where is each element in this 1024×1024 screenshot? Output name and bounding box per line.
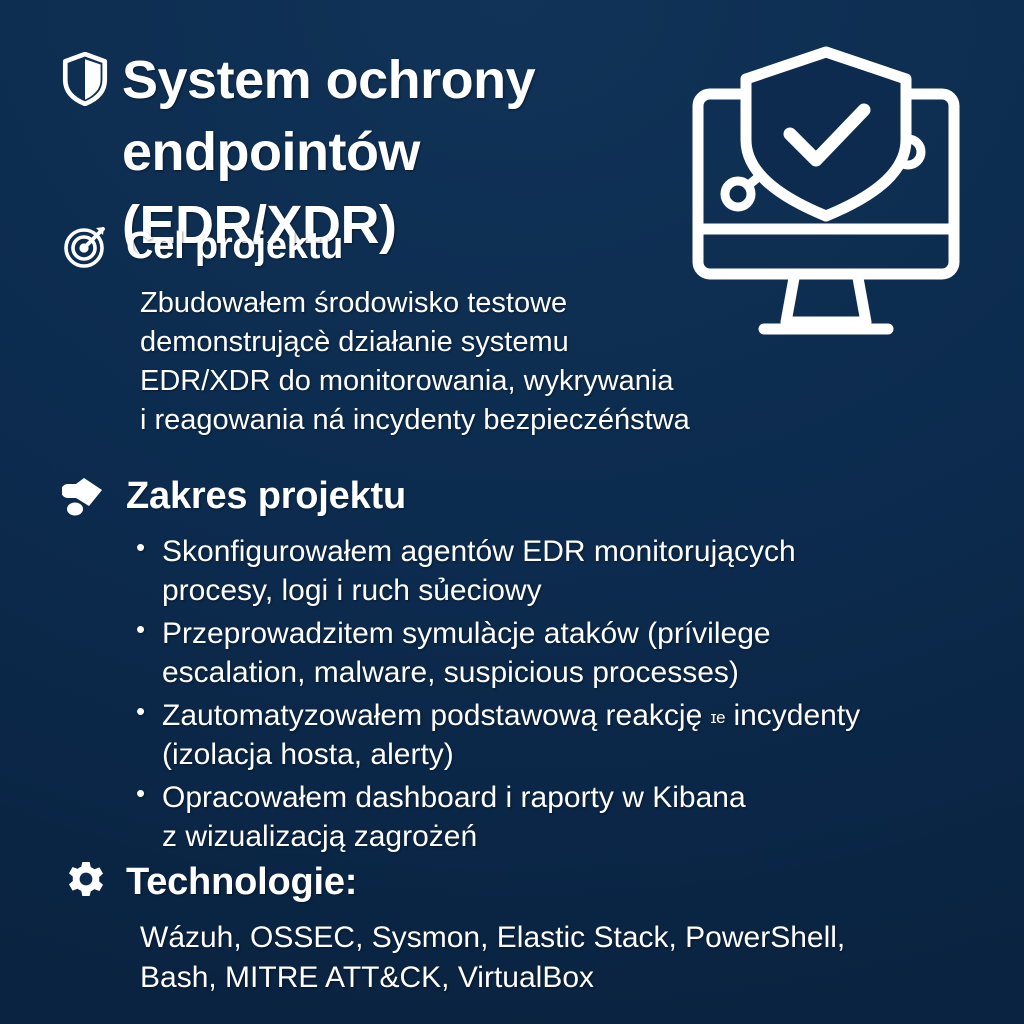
goal-heading-row: Cel projektu — [62, 222, 762, 270]
list-item: Skonfigurowałem agentów EDR monitorujący… — [136, 532, 992, 610]
shield-check-icon — [746, 52, 906, 216]
scope-item-glyph: ɪe — [711, 708, 726, 727]
technologies-heading-row: Technologie: — [62, 858, 962, 906]
scope-heading: Zakres projektu — [126, 475, 406, 518]
tag-arrow-icon — [62, 472, 110, 520]
list-item: Zautomatyzowałem podstawową reakcję ɪe i… — [136, 696, 992, 774]
technologies-heading: Technologie: — [126, 861, 357, 904]
goal-heading: Cel projektu — [126, 225, 343, 268]
scope-item-text: Przeprowadzitem symulàcje ataków (prívil… — [162, 617, 771, 689]
scope-section: Zakres projektu Skonfigurowałem agentów … — [62, 472, 992, 860]
shield-icon — [62, 52, 108, 106]
scope-item-text: Skonfigurowałem agentów EDR monitorujący… — [162, 535, 796, 607]
scope-heading-row: Zakres projektu — [62, 472, 992, 520]
gear-icon — [62, 858, 110, 906]
scope-list: Skonfigurowałem agentów EDR monitorujący… — [136, 532, 992, 856]
goal-body-text: Zbudowałem środowisko testowe demonstruj… — [140, 284, 762, 439]
list-item: Przeprowadzitem symulàcje ataków (prívil… — [136, 614, 992, 692]
line-chart-icon — [725, 139, 921, 209]
technologies-section: Technologie: Wázuh, OSSEC, Sysmon, Elast… — [62, 858, 962, 997]
goal-section: Cel projektu Zbudowałem środowisko testo… — [62, 222, 762, 439]
target-icon — [62, 222, 110, 270]
scope-item-text: Opracowałem dashboard i raporty w Kibana… — [162, 781, 746, 853]
technologies-list: Wázuh, OSSEC, Sysmon, Elastic Stack, Pow… — [140, 918, 962, 997]
poster-canvas: System ochrony endpointów (EDR/XDR) Cel … — [0, 0, 1024, 1024]
scope-item-text-before: Zautomatyzowałem podstawową reakcję — [162, 699, 711, 732]
list-item: Opracowałem dashboard i raporty w Kibana… — [136, 778, 992, 856]
